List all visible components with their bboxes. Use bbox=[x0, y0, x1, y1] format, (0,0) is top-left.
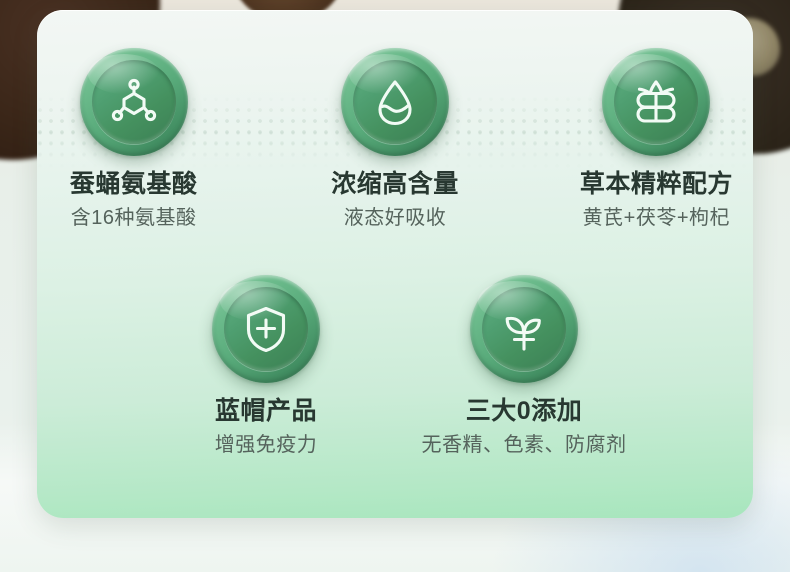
feature-badge bbox=[341, 48, 449, 156]
sprout-icon bbox=[498, 303, 550, 355]
feature-row-bottom: 蓝帽产品 增强免疫力 三大0添加 无香精、色素、防腐剂 bbox=[37, 275, 753, 455]
feature-badge-inner bbox=[353, 60, 437, 144]
feature-title: 蓝帽产品 bbox=[215, 399, 317, 424]
feature-badge bbox=[212, 275, 320, 383]
feature-badge bbox=[470, 275, 578, 383]
feature-title: 草本精粹配方 bbox=[580, 172, 733, 197]
gift-box-icon bbox=[630, 76, 682, 128]
feature-item-zero-additives[interactable]: 三大0添加 无香精、色素、防腐剂 bbox=[424, 275, 624, 455]
feature-title: 蚕蛹氨基酸 bbox=[70, 172, 198, 197]
feature-subtitle: 含16种氨基酸 bbox=[71, 208, 197, 228]
feature-subtitle: 液态好吸收 bbox=[344, 208, 447, 228]
feature-subtitle: 增强免疫力 bbox=[215, 435, 318, 455]
feature-item-herbal-formula[interactable]: 草本精粹配方 黄芪+茯苓+枸杞 bbox=[560, 48, 753, 228]
feature-title: 三大0添加 bbox=[466, 399, 582, 424]
feature-badge-inner bbox=[92, 60, 176, 144]
feature-subtitle: 黄芪+茯苓+枸杞 bbox=[583, 208, 730, 228]
feature-badge bbox=[80, 48, 188, 156]
feature-badge-inner bbox=[482, 287, 566, 371]
feature-row-top: 蚕蛹氨基酸 含16种氨基酸 浓缩高含量 液态好吸收 bbox=[37, 48, 753, 228]
product-feature-card: 蚕蛹氨基酸 含16种氨基酸 浓缩高含量 液态好吸收 bbox=[37, 10, 753, 518]
feature-badge-inner bbox=[224, 287, 308, 371]
feature-subtitle: 无香精、色素、防腐剂 bbox=[422, 435, 627, 455]
feature-item-amino-acid[interactable]: 蚕蛹氨基酸 含16种氨基酸 bbox=[37, 48, 230, 228]
feature-item-blue-hat[interactable]: 蓝帽产品 增强免疫力 bbox=[166, 275, 366, 455]
shield-plus-icon bbox=[240, 303, 292, 355]
molecule-icon bbox=[108, 76, 160, 128]
water-drop-icon bbox=[369, 76, 421, 128]
feature-badge-inner bbox=[614, 60, 698, 144]
feature-badge bbox=[602, 48, 710, 156]
feature-title: 浓缩高含量 bbox=[331, 172, 459, 197]
feature-item-concentration[interactable]: 浓缩高含量 液态好吸收 bbox=[298, 48, 491, 228]
